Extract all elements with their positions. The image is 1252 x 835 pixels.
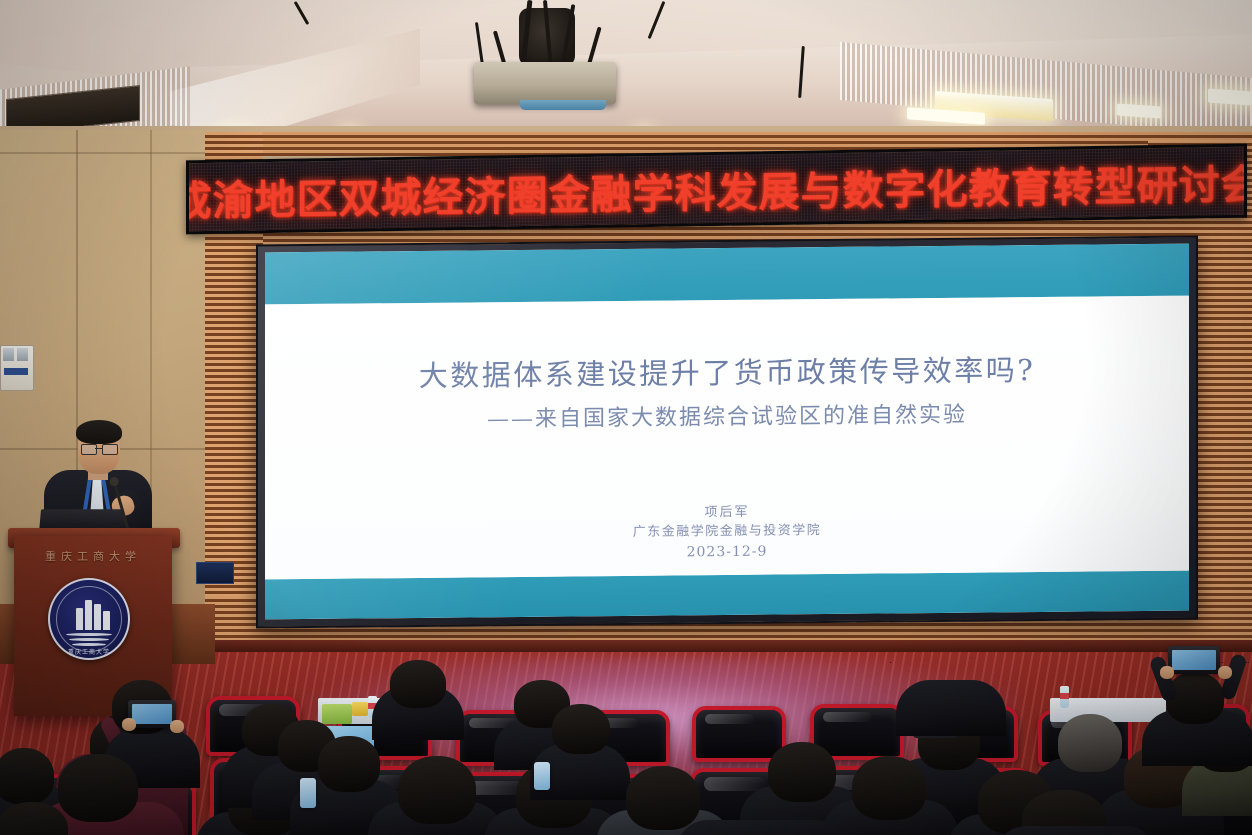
slide-body: 大数据体系建设提升了货币政策传导效率吗? ——来自国家大数据综合试验区的准自然实…	[265, 300, 1189, 580]
hand	[122, 718, 136, 731]
emblem-label: 重庆工商大学	[50, 647, 128, 656]
glasses-icon	[80, 444, 118, 453]
audience-head	[1058, 714, 1122, 772]
speaker-hair	[76, 420, 122, 444]
device-indicator	[3, 348, 14, 361]
seat	[692, 706, 786, 762]
audience-member	[996, 826, 1156, 835]
emblem-bar	[76, 608, 83, 630]
table-item-green	[322, 704, 352, 724]
slide-title: 大数据体系建设提升了货币政策传导效率吗?	[265, 346, 1189, 397]
audience-head	[318, 736, 380, 792]
wall-mounted-device	[0, 345, 34, 391]
audience-head	[0, 748, 54, 804]
audience-head	[552, 704, 610, 754]
emblem-bar	[94, 604, 101, 630]
projector-lens	[520, 100, 606, 110]
audience-member	[896, 680, 1006, 736]
ceiling-projector	[474, 62, 616, 104]
audience-member	[1222, 662, 1223, 663]
emblem-wave	[72, 643, 106, 646]
ceiling-light	[1208, 88, 1252, 105]
audience-member	[676, 820, 846, 835]
wall-seam	[0, 152, 215, 154]
audience-head	[398, 756, 476, 824]
audience-member	[1248, 662, 1249, 663]
wall-plaque	[196, 562, 234, 584]
emblem-bar	[85, 600, 92, 630]
audience-member	[890, 662, 891, 663]
emblem-wave	[69, 638, 109, 641]
audience-head	[768, 742, 836, 802]
audience-head	[58, 754, 138, 822]
water-bottle	[1060, 686, 1069, 708]
projection-screen: 大数据体系建设提升了货币政策传导效率吗? ——来自国家大数据综合试验区的准自然实…	[256, 235, 1198, 628]
emblem-bar	[103, 611, 110, 630]
emblem-wave	[66, 633, 112, 636]
presentation-slide: 大数据体系建设提升了货币政策传导效率吗? ——来自国家大数据综合试验区的准自然实…	[265, 244, 1189, 620]
hand	[1160, 666, 1174, 679]
camera-device	[1168, 646, 1220, 674]
camera-lcd	[132, 704, 172, 724]
audience-head	[626, 766, 700, 830]
glasses-lens-left	[81, 444, 97, 455]
phone-device	[300, 778, 316, 808]
hand	[170, 720, 184, 733]
device-indicator	[17, 348, 28, 361]
audience-member	[1246, 662, 1247, 663]
audience	[0, 662, 1252, 835]
audience-head	[852, 756, 926, 820]
slide-subtitle: ——来自国家大数据综合试验区的准自然实验	[265, 395, 1189, 436]
phone-device	[534, 762, 550, 790]
slide-top-band	[265, 244, 1189, 305]
table-item-yellow	[352, 702, 368, 716]
audience-head	[390, 660, 446, 708]
podium-institution-name: 重庆工商大学	[14, 548, 172, 564]
glasses-lens-right	[102, 444, 118, 455]
hand	[1218, 666, 1232, 679]
university-emblem-icon: 重庆工商大学	[48, 578, 130, 660]
led-banner-text: 成渝地区双城经济圈金融学科发展与数字化教育转型研讨会	[186, 150, 1247, 227]
slide-metadata: 项后军 广东金融学院金融与投资学院 2023-12-9	[265, 500, 1189, 567]
camera-lcd	[1172, 650, 1216, 670]
device-label-strip	[4, 368, 28, 375]
conference-photo: 成渝地区双城经济圈金融学科发展与数字化教育转型研讨会 大数据体系建设提升了货币政…	[0, 0, 1252, 835]
